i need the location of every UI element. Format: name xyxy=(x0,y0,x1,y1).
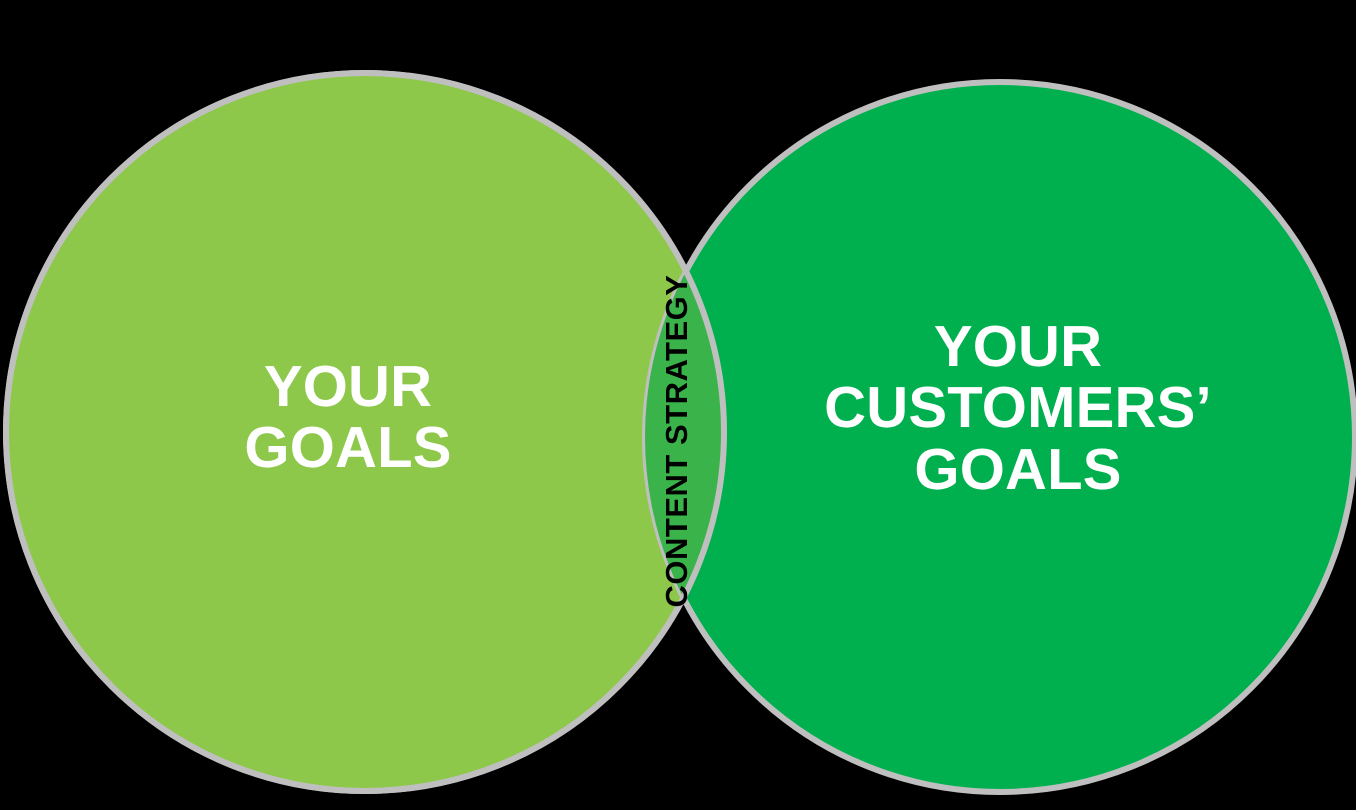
venn-diagram: YOUR GOALS YOUR CUSTOMERS’ GOALS CONTENT… xyxy=(0,0,1356,810)
venn-shapes xyxy=(0,0,1356,810)
left-circle-shape[interactable] xyxy=(6,73,724,791)
right-circle-shape[interactable] xyxy=(645,82,1355,792)
